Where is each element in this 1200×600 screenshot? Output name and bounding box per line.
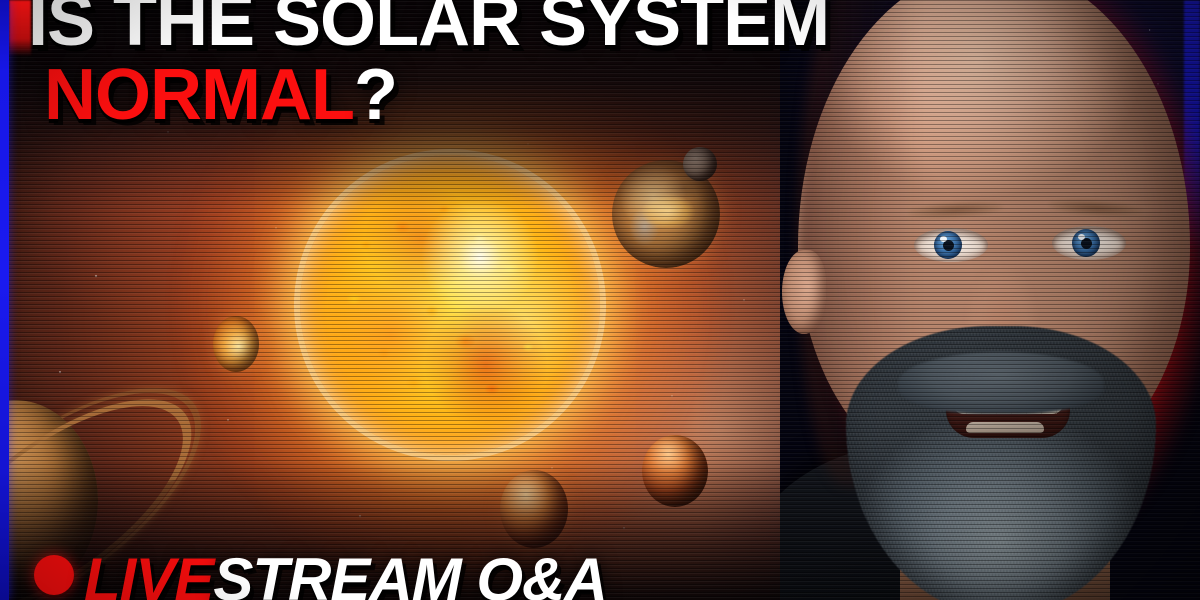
headline-line-1: IS THE SOLAR SYSTEM bbox=[28, 0, 829, 54]
presenter-eye-right bbox=[1052, 226, 1126, 260]
presenter-iris-right bbox=[1072, 229, 1100, 257]
livestream-banner: LIVESTREAM Q&A bbox=[34, 545, 607, 600]
presenter-ear bbox=[782, 250, 826, 334]
presenter-face bbox=[780, 0, 1200, 600]
headline-line-2: NORMAL? bbox=[44, 62, 829, 128]
stream-qa-label: STREAM Q&A bbox=[213, 546, 606, 600]
top-red-accent bbox=[9, 0, 31, 56]
presenter-eye-glint-right bbox=[1078, 234, 1085, 240]
livestream-label: LIVESTREAM Q&A bbox=[84, 545, 607, 600]
headline-word-normal: NORMAL bbox=[44, 55, 354, 135]
video-thumbnail: IS THE SOLAR SYSTEM NORMAL? LIVESTREAM Q… bbox=[0, 0, 1200, 600]
presenter-iris-left bbox=[934, 231, 962, 259]
presenter-eye-left bbox=[914, 228, 988, 262]
presenter-teeth-lower bbox=[966, 422, 1044, 433]
headline: IS THE SOLAR SYSTEM NORMAL? bbox=[28, 0, 829, 128]
presenter-mustache bbox=[898, 352, 1104, 414]
presenter-eye-glint-left bbox=[940, 236, 947, 242]
left-blue-edge-bar bbox=[0, 0, 9, 600]
headline-question-mark: ? bbox=[354, 55, 397, 135]
live-label: LIVE bbox=[84, 546, 213, 600]
live-dot-icon bbox=[34, 555, 74, 595]
